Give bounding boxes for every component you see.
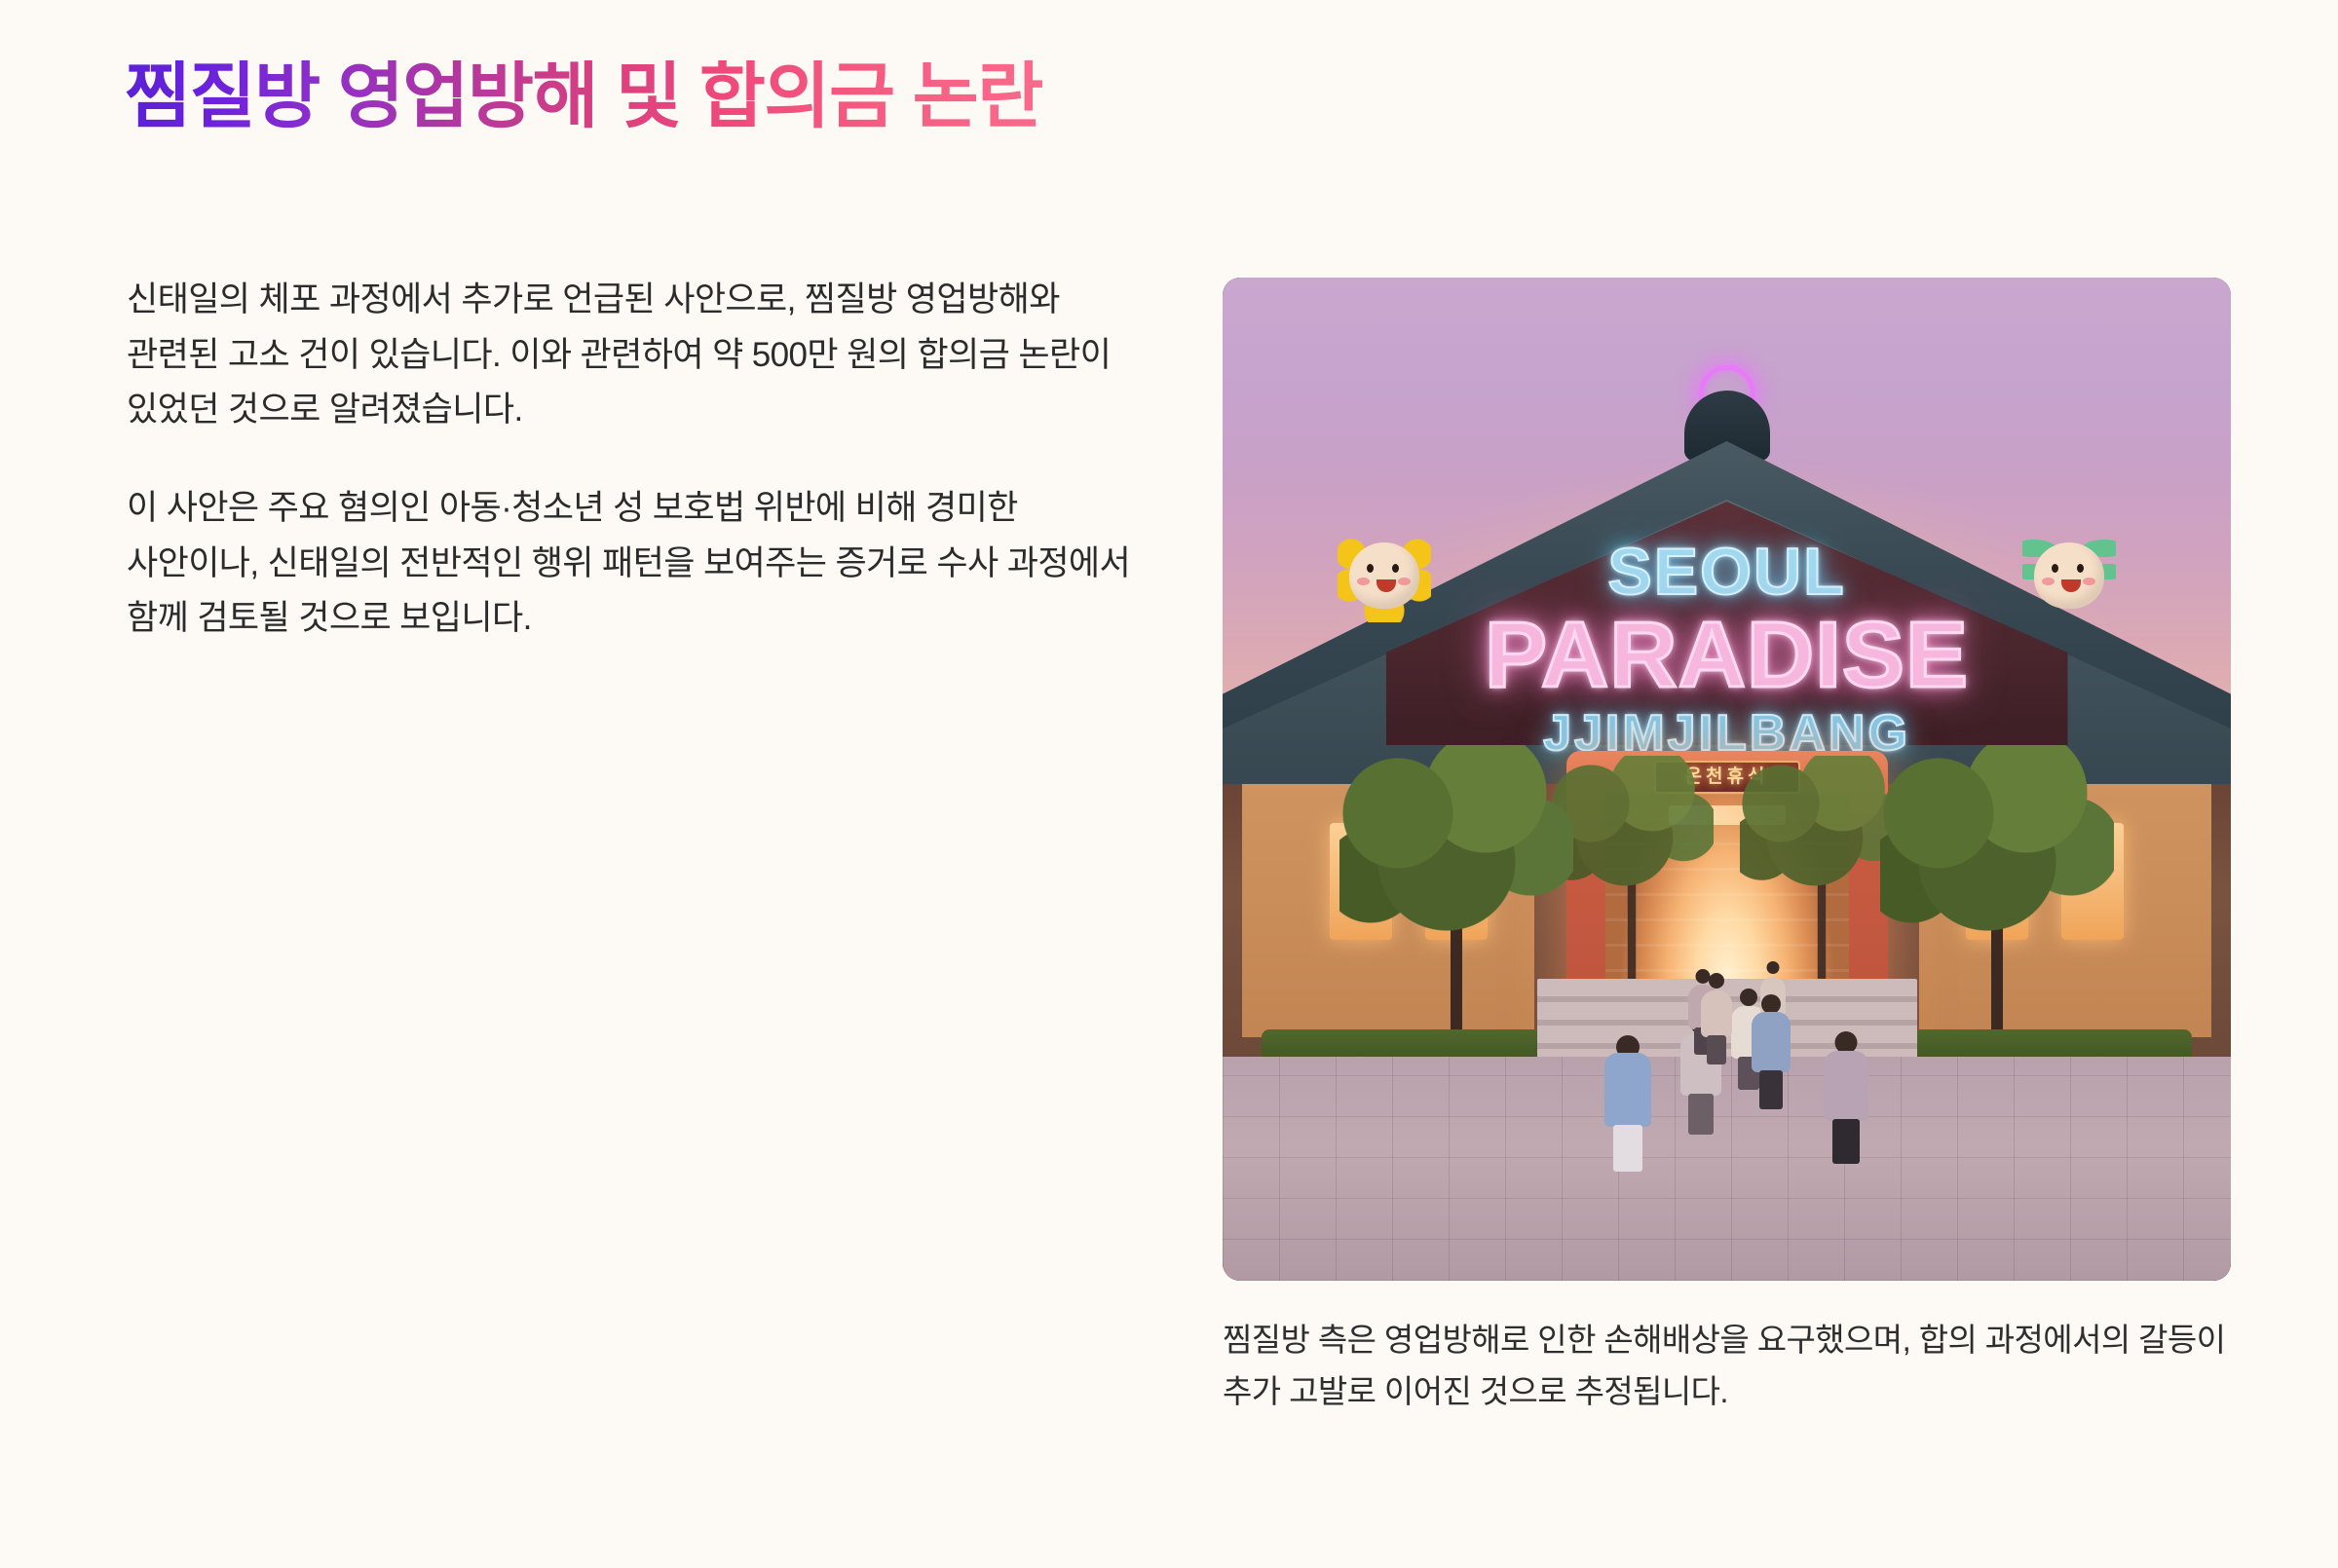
figure-block: SEOUL PARADISE JJIMJILBANG 온천휴식 [1223, 278, 2231, 1418]
jjimjilbang-photo: SEOUL PARADISE JJIMJILBANG 온천휴식 [1223, 278, 2231, 1281]
paragraph-2: 이 사안은 주요 혐의인 아동·청소년 성 보호법 위반에 비해 경미한 사안이… [127, 481, 1140, 647]
slide-root: 찜질방 영업방해 및 합의금 논란 신태일의 체포 과정에서 추가로 언급된 사… [0, 0, 2338, 1568]
paved-plaza [1223, 1057, 2231, 1281]
person-silhouette [1604, 1035, 1651, 1172]
neon-signage: SEOUL PARADISE JJIMJILBANG [1415, 539, 2039, 759]
sign-line-paradise: PARADISE [1415, 609, 2039, 702]
page-title: 찜질방 영업방해 및 합의금 논란 [125, 60, 1042, 132]
sign-line-seoul: SEOUL [1415, 539, 2039, 605]
article-body: 신태일의 체포 과정에서 추가로 언급된 사안으로, 찜질방 영업방해와 관련된… [127, 273, 1140, 647]
mascot-right-icon [2022, 529, 2116, 622]
person-silhouette [1752, 994, 1791, 1109]
mascot-left-icon [1338, 529, 1431, 622]
tree [1550, 756, 1714, 988]
paragraph-1: 신태일의 체포 과정에서 추가로 언급된 사안으로, 찜질방 영업방해와 관련된… [127, 273, 1140, 438]
person-silhouette [1824, 1031, 1868, 1164]
figure-caption: 찜질방 측은 영업방해로 인한 손해배상을 요구했으며, 합의 과정에서의 갈등… [1223, 1314, 2231, 1418]
person-silhouette [1701, 973, 1732, 1064]
tree [1740, 756, 1904, 988]
